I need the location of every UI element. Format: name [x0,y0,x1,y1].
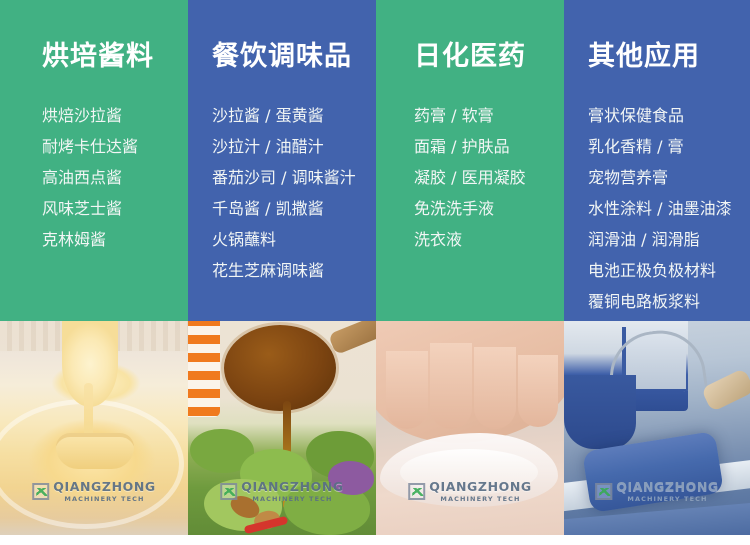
creamy-mayonnaise-bowl-photo: QIANGZHONG MACHINERY TECH [0,321,188,535]
category-title-other-applications: 其他应用 [564,40,750,74]
finger [430,343,472,429]
list-item: 火锅蘸料 [212,224,376,255]
list-item: 番茄沙司 / 调味酱汁 [212,162,376,193]
finger [518,355,558,427]
category-list-other-applications: 膏状保健食品 乳化香精 / 膏 宠物营养膏 水性涂料 / 油墨油漆 润滑油 / … [564,100,750,317]
category-title-catering-condiments: 餐饮调味品 [188,40,376,74]
category-panel-daily-chemical-pharma: 日化医药 药膏 / 软膏 面霜 / 护肤品 凝胶 / 医用凝胶 免洗洗手液 洗衣… [376,0,564,321]
list-item: 耐烤卡仕达酱 [42,131,188,162]
list-item: 沙拉汁 / 油醋汁 [212,131,376,162]
list-item: 克林姆酱 [42,224,188,255]
list-item: 润滑油 / 润滑脂 [588,224,750,255]
category-panel-catering-condiments: 餐饮调味品 沙拉酱 / 蛋黄酱 沙拉汁 / 油醋汁 番茄沙司 / 调味酱汁 千岛… [188,0,376,321]
cream-on-skin-photo: QIANGZHONG MACHINERY TECH [376,321,564,535]
photo-artwork [188,321,376,535]
category-photo-row: QIANGZHONG MACHINERY TECH [0,321,750,535]
roller-handle [701,368,750,412]
wooden-handle [328,321,376,355]
striped-cup [188,321,220,417]
list-item: 面霜 / 护肤品 [414,131,564,162]
photo-artwork [0,321,188,535]
list-item: 沙拉酱 / 蛋黄酱 [212,100,376,131]
category-panel-baking-sauces: 烘培酱料 烘焙沙拉酱 耐烤卡仕达酱 高油西点酱 风味芝士酱 克林姆酱 [0,0,188,321]
list-item: 覆铜电路板浆料 [588,286,750,317]
list-item: 烘焙沙拉酱 [42,100,188,131]
cream-highlight [400,449,538,495]
category-list-daily-chemical-pharma: 药膏 / 软膏 面霜 / 护肤品 凝胶 / 医用凝胶 免洗洗手液 洗衣液 [376,100,564,255]
list-item: 千岛酱 / 凯撒酱 [212,193,376,224]
list-item: 风味芝士酱 [42,193,188,224]
list-item: 花生芝麻调味酱 [212,255,376,286]
category-title-daily-chemical-pharma: 日化医药 [376,40,564,74]
category-list-catering-condiments: 沙拉酱 / 蛋黄酱 沙拉汁 / 油醋汁 番茄沙司 / 调味酱汁 千岛酱 / 凯撒… [188,100,376,286]
list-item: 电池正极负极材料 [588,255,750,286]
list-item: 高油西点酱 [42,162,188,193]
list-item: 宠物营养膏 [588,162,750,193]
list-item: 膏状保健食品 [588,100,750,131]
list-item: 洗衣液 [414,224,564,255]
category-panel-other-applications: 其他应用 膏状保健食品 乳化香精 / 膏 宠物营养膏 水性涂料 / 油墨油漆 润… [564,0,750,321]
sauce-swirl [56,433,134,469]
photo-artwork [564,321,750,535]
purple-cabbage [328,461,374,495]
category-panel-row: 烘培酱料 烘焙沙拉酱 耐烤卡仕达酱 高油西点酱 风味芝士酱 克林姆酱 餐饮调味品… [0,0,750,321]
blue-paint-roller-photo: QIANGZHONG MACHINERY TECH [564,321,750,535]
category-title-baking-sauces: 烘培酱料 [0,40,188,74]
application-categories-banner: 烘培酱料 烘焙沙拉酱 耐烤卡仕达酱 高油西点酱 风味芝士酱 克林姆酱 餐饮调味品… [0,0,750,545]
finger [474,347,516,429]
list-item: 凝胶 / 医用凝胶 [414,162,564,193]
list-item: 水性涂料 / 油墨油漆 [588,193,750,224]
paint-drip [564,375,636,449]
list-item: 药膏 / 软膏 [414,100,564,131]
photo-artwork [376,321,564,535]
category-list-baking-sauces: 烘焙沙拉酱 耐烤卡仕达酱 高油西点酱 风味芝士酱 克林姆酱 [0,100,188,255]
list-item: 免洗洗手液 [414,193,564,224]
list-item: 乳化香精 / 膏 [588,131,750,162]
spoon-bowl [224,325,336,411]
vinaigrette-salad-pour-photo: QIANGZHONG MACHINERY TECH [188,321,376,535]
finger [386,351,428,429]
